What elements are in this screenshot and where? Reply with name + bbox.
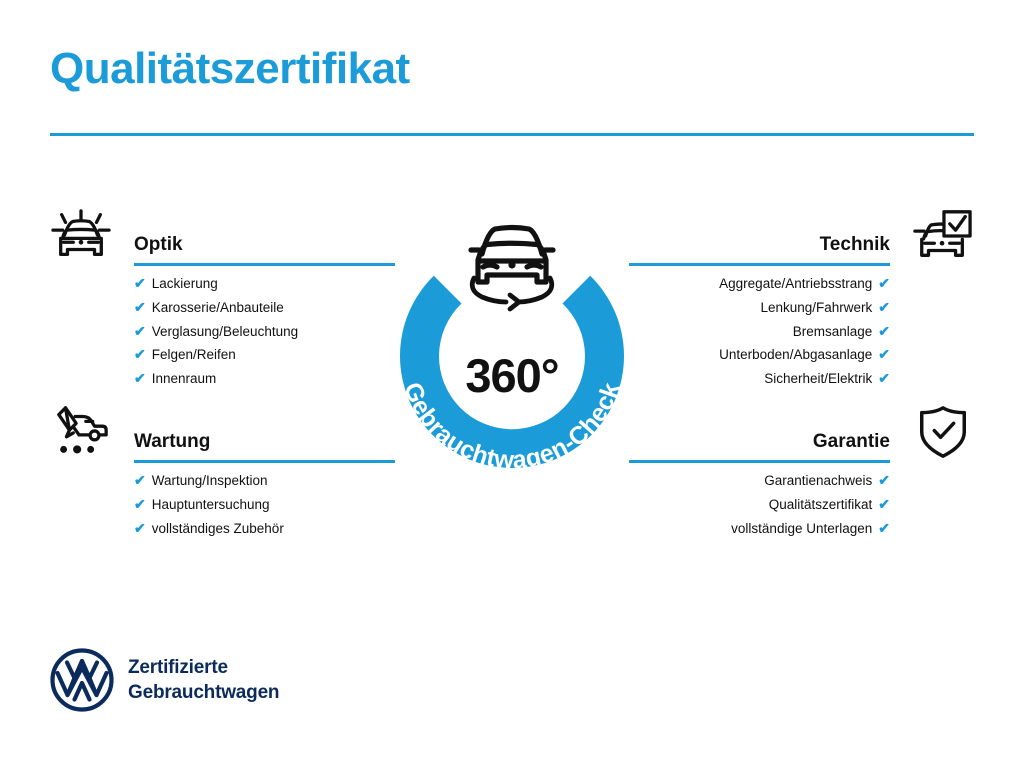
list-item-label: Lackierung	[152, 272, 218, 296]
check-icon: ✔	[134, 300, 146, 314]
list-item: ✔ Wartung/Inspektion	[134, 469, 395, 493]
section-wartung-header: Wartung	[50, 419, 395, 463]
list-item: vollständige Unterlagen ✔	[629, 517, 890, 541]
list-item-label: Innenraum	[152, 367, 217, 391]
section-technik-list: Aggregate/Antriebsstrang ✔ Lenkung/Fahrw…	[629, 272, 890, 391]
section-garantie-title: Garantie	[813, 431, 890, 453]
page-title: Qualitätszertifikat	[50, 45, 410, 93]
list-item: Lenkung/Fahrwerk ✔	[629, 296, 890, 320]
certificate-page: Qualitätszertifikat	[0, 0, 1024, 768]
list-item: Qualitätszertifikat ✔	[629, 493, 890, 517]
title-divider	[50, 133, 974, 136]
list-item: ✔ vollständiges Zubehör	[134, 517, 395, 541]
volkswagen-logo-icon	[50, 648, 114, 712]
list-item: Bremsanlage ✔	[629, 320, 890, 344]
check-icon: ✔	[134, 347, 146, 361]
list-item-label: Karosserie/Anbauteile	[152, 296, 284, 320]
footer-vw-logo: Zertifizierte Gebrauchtwagen	[50, 648, 279, 712]
check-icon: ✔	[134, 371, 146, 385]
badge-360-gebrauchtwagen-check: Gebrauchtwagen-Check 360°	[375, 200, 649, 488]
pencil-car-service-icon	[50, 403, 112, 461]
list-item: Garantienachweis ✔	[629, 469, 890, 493]
list-item: Unterboden/Abgasanlage ✔	[629, 343, 890, 367]
check-icon: ✔	[878, 347, 890, 361]
check-icon: ✔	[134, 324, 146, 338]
list-item-label: vollständiges Zubehör	[152, 517, 284, 541]
car-rotate-360-icon	[471, 228, 553, 310]
list-item-label: Felgen/Reifen	[152, 343, 236, 367]
section-technik-header: Technik	[629, 222, 974, 266]
section-technik-divider	[629, 263, 890, 266]
section-garantie-divider	[629, 460, 890, 463]
check-icon: ✔	[878, 300, 890, 314]
section-garantie: Garantie Garantienachweis ✔ Qualitätszer…	[629, 419, 974, 463]
list-item-label: Unterboden/Abgasanlage	[719, 343, 872, 367]
section-technik-title: Technik	[820, 234, 890, 256]
section-optik-header: Optik	[50, 222, 395, 266]
check-icon: ✔	[878, 324, 890, 338]
shield-check-icon	[912, 403, 974, 461]
footer-wordmark: Zertifizierte Gebrauchtwagen	[128, 655, 279, 705]
section-optik: Optik ✔ Lackierung ✔ Karosserie/Anbautei…	[50, 222, 395, 266]
list-item: ✔ Karosserie/Anbauteile	[134, 296, 395, 320]
check-icon: ✔	[878, 497, 890, 511]
section-garantie-list: Garantienachweis ✔ Qualitätszertifikat ✔…	[629, 469, 890, 540]
list-item-label: Garantienachweis	[764, 469, 872, 493]
car-front-shine-icon	[50, 206, 112, 264]
check-icon: ✔	[878, 473, 890, 487]
section-wartung: Wartung ✔ Wartung/Inspektion ✔ Hauptunte…	[50, 419, 395, 463]
section-wartung-list: ✔ Wartung/Inspektion ✔ Hauptuntersuchung…	[134, 469, 395, 540]
list-item-label: Qualitätszertifikat	[769, 493, 873, 517]
section-wartung-divider	[134, 460, 395, 463]
section-optik-divider	[134, 263, 395, 266]
list-item: Aggregate/Antriebsstrang ✔	[629, 272, 890, 296]
list-item-label: Hauptuntersuchung	[152, 493, 270, 517]
list-item-label: vollständige Unterlagen	[731, 517, 872, 541]
list-item-label: Bremsanlage	[793, 320, 873, 344]
list-item-label: Verglasung/Beleuchtung	[152, 320, 298, 344]
check-icon: ✔	[878, 276, 890, 290]
section-technik: Technik Aggregate/Antriebsstrang ✔ Lenku…	[629, 222, 974, 266]
list-item: ✔ Hauptuntersuchung	[134, 493, 395, 517]
section-optik-title: Optik	[134, 234, 183, 256]
section-garantie-header: Garantie	[629, 419, 974, 463]
section-optik-list: ✔ Lackierung ✔ Karosserie/Anbauteile ✔ V…	[134, 272, 395, 391]
check-icon: ✔	[878, 521, 890, 535]
car-front-checkbox-icon	[912, 206, 974, 264]
footer-line-2: Gebrauchtwagen	[128, 680, 279, 705]
list-item-label: Sicherheit/Elektrik	[764, 367, 872, 391]
check-icon: ✔	[878, 371, 890, 385]
check-icon: ✔	[134, 497, 146, 511]
list-item-label: Lenkung/Fahrwerk	[760, 296, 872, 320]
footer-line-1: Zertifizierte	[128, 655, 279, 680]
list-item: Sicherheit/Elektrik ✔	[629, 367, 890, 391]
list-item-label: Aggregate/Antriebsstrang	[719, 272, 872, 296]
check-icon: ✔	[134, 521, 146, 535]
section-wartung-title: Wartung	[134, 431, 210, 453]
check-icon: ✔	[134, 473, 146, 487]
list-item: ✔ Felgen/Reifen	[134, 343, 395, 367]
list-item-label: Wartung/Inspektion	[152, 469, 268, 493]
check-icon: ✔	[134, 276, 146, 290]
list-item: ✔ Verglasung/Beleuchtung	[134, 320, 395, 344]
list-item: ✔ Innenraum	[134, 367, 395, 391]
list-item: ✔ Lackierung	[134, 272, 395, 296]
